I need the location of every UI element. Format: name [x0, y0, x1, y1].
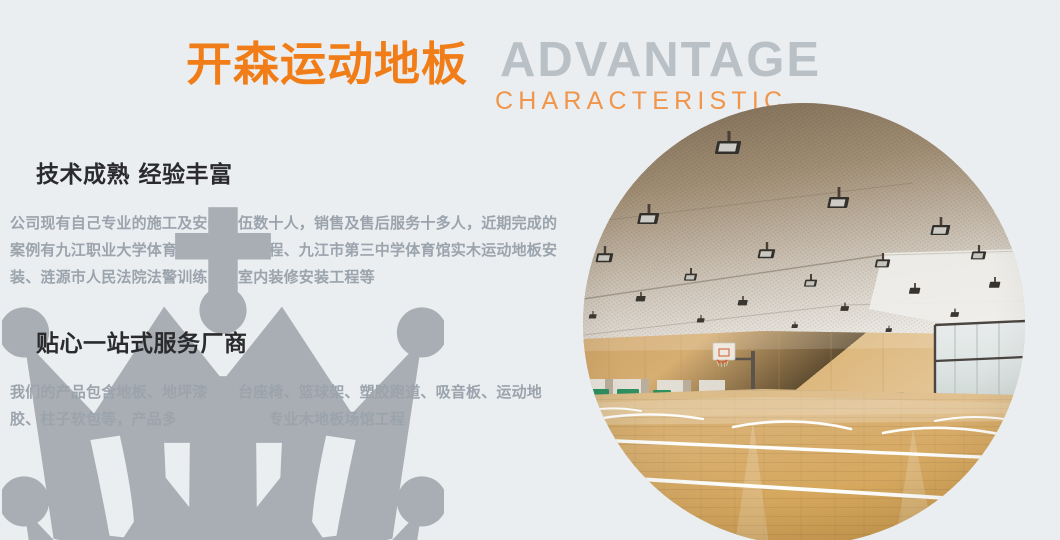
- crown-icon: [2, 163, 32, 189]
- page-title: 开森运动地板: [186, 38, 468, 90]
- gymnasium-basketball-court-photo: [583, 103, 1025, 540]
- photo-inner: [583, 103, 1025, 540]
- feature-2-header: 贴心一站式服务厂商: [0, 329, 580, 369]
- title-english-primary: ADVANTAGE: [500, 34, 821, 86]
- feature-section-2: 贴心一站式服务厂商 我们的产品包含地板、地坪漆、看台座椅、篮球架、塑胶跑道、吸音…: [0, 329, 580, 433]
- feature-1-header: 技术成熟 经验丰富: [0, 160, 580, 200]
- crown-icon: [2, 332, 32, 358]
- feature-section-1: 技术成熟 经验丰富 公司现有自己专业的施工及安装队伍数十人，销售及售后服务十多人…: [0, 160, 580, 291]
- advantage-banner: ADVANTAGE CHARACTERISTIC 开森运动地板: [0, 0, 1060, 540]
